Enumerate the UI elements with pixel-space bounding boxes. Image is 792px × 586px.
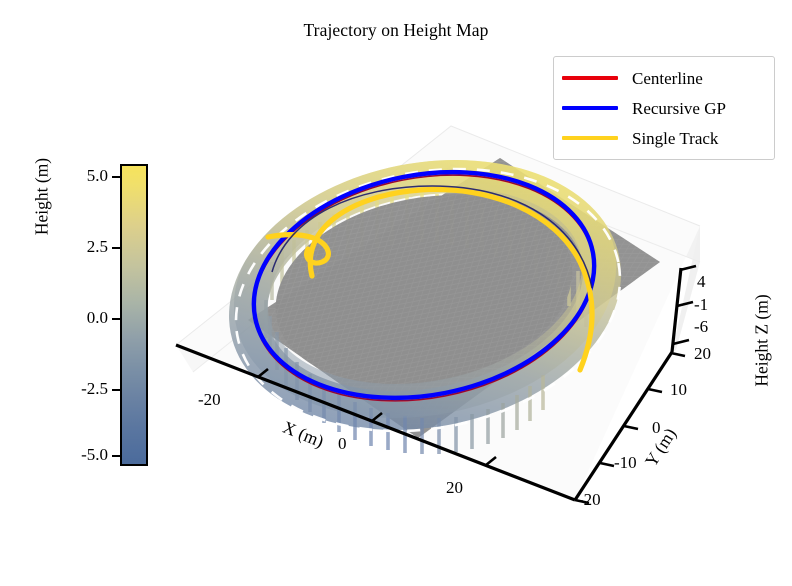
x-tick-label-2: 20 <box>446 478 463 498</box>
legend-swatch-recursive-gp <box>562 106 618 110</box>
y-tick-label-0: 20 <box>694 344 711 364</box>
legend: Centerline Recursive GP Single Track <box>553 56 775 160</box>
colorbar-tick-label-3: -2.5 <box>36 379 108 399</box>
legend-swatch-single-track <box>562 136 618 140</box>
legend-swatch-centerline <box>562 76 618 80</box>
colorbar-title: Height (m) <box>32 67 53 327</box>
colorbar-tick-2 <box>112 318 120 320</box>
colorbar-tick-4 <box>112 455 120 457</box>
legend-item-recursive-gp[interactable]: Recursive GP <box>562 93 764 123</box>
figure-canvas: Trajectory on Height Map <box>0 0 792 586</box>
colorbar-tick-1 <box>112 247 120 249</box>
legend-label-single-track: Single Track <box>632 130 718 147</box>
colorbar-gradient <box>120 164 148 466</box>
z-axis-label: Height Z (m) <box>752 251 773 431</box>
legend-label-recursive-gp: Recursive GP <box>632 100 726 117</box>
x-tick-label-1: 0 <box>338 434 347 454</box>
y-tick-label-4: -20 <box>578 490 601 510</box>
z-tick-label-0: 4 <box>697 272 706 292</box>
colorbar-tick-label-4: -5.0 <box>36 445 108 465</box>
colorbar-tick-3 <box>112 389 120 391</box>
colorbar-tick-0 <box>112 176 120 178</box>
legend-item-single-track[interactable]: Single Track <box>562 123 764 153</box>
z-tick-label-2: -6 <box>694 317 708 337</box>
legend-label-centerline: Centerline <box>632 70 703 87</box>
y-tick-label-3: -10 <box>614 453 637 473</box>
z-tick-label-1: -1 <box>694 295 708 315</box>
x-tick-label-0: -20 <box>198 390 221 410</box>
y-tick-label-1: 10 <box>670 380 687 400</box>
legend-item-centerline[interactable]: Centerline <box>562 63 764 93</box>
